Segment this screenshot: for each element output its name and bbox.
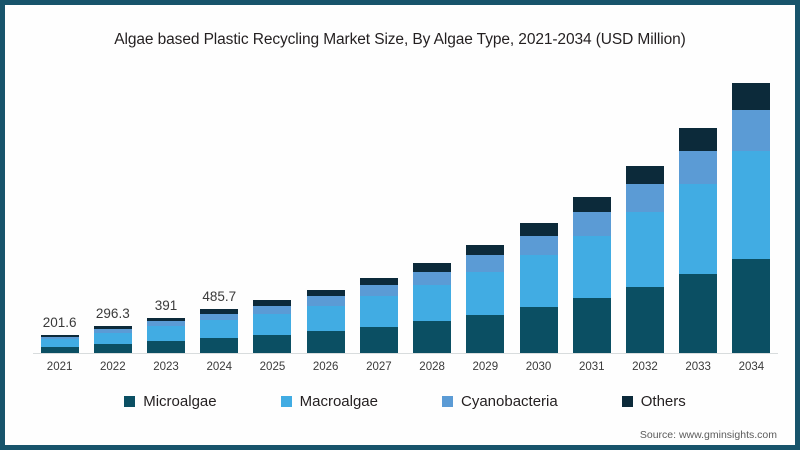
bar-group (566, 197, 618, 353)
bar-segment-macroalgae[interactable] (626, 212, 664, 287)
bar-segment-cyanobacteria[interactable] (732, 110, 770, 151)
bar-group (300, 290, 352, 353)
legend-item-others[interactable]: Others (622, 393, 686, 410)
bar-segment-cyanobacteria[interactable] (573, 212, 611, 235)
x-tick-label: 2032 (619, 361, 671, 373)
chart-legend: MicroalgaeMacroalgaeCyanobacteriaOthers (5, 393, 800, 410)
bar-segment-others[interactable] (573, 197, 611, 213)
bar-segment-microalgae[interactable] (307, 331, 345, 353)
x-tick-label: 2025 (246, 361, 298, 373)
bar-segment-macroalgae[interactable] (466, 272, 504, 315)
stacked-bar[interactable] (307, 290, 345, 353)
bar-segment-microalgae[interactable] (253, 335, 291, 353)
x-tick-label: 2031 (566, 361, 618, 373)
bar-value-label: 296.3 (96, 306, 130, 321)
bar-segment-microalgae[interactable] (520, 307, 558, 353)
stacked-bar[interactable] (732, 83, 770, 353)
legend-swatch-icon (442, 396, 453, 407)
chart-frame: Algae based Plastic Recycling Market Siz… (0, 0, 800, 450)
bar-value-label: 485.7 (202, 289, 236, 304)
bar-segment-microalgae[interactable] (466, 315, 504, 353)
legend-item-macroalgae[interactable]: Macroalgae (281, 393, 378, 410)
legend-item-cyanobacteria[interactable]: Cyanobacteria (442, 393, 558, 410)
bar-group (725, 83, 777, 353)
bar-segment-cyanobacteria[interactable] (520, 236, 558, 256)
x-axis-baseline (33, 353, 778, 354)
bar-segment-cyanobacteria[interactable] (200, 314, 238, 321)
bar-segment-microalgae[interactable] (573, 298, 611, 353)
bar-segment-microalgae[interactable] (679, 274, 717, 353)
bar-segment-microalgae[interactable] (626, 287, 664, 353)
bar-segment-macroalgae[interactable] (732, 151, 770, 259)
stacked-bar[interactable] (573, 197, 611, 353)
chart-title: Algae based Plastic Recycling Market Siz… (5, 31, 795, 49)
bar-segment-cyanobacteria[interactable] (307, 296, 345, 305)
bar-group: 201.6 (34, 335, 86, 353)
bar-segment-others[interactable] (732, 83, 770, 110)
legend-label: Microalgae (143, 393, 216, 410)
stacked-bar[interactable] (679, 128, 717, 353)
stacked-bar[interactable] (360, 278, 398, 354)
bar-segment-cyanobacteria[interactable] (360, 285, 398, 296)
bar-group (246, 300, 298, 353)
x-tick-label: 2027 (353, 361, 405, 373)
x-tick-label: 2022 (87, 361, 139, 373)
bar-segment-cyanobacteria[interactable] (679, 151, 717, 185)
bar-group: 485.7 (193, 309, 245, 353)
x-tick-label: 2024 (193, 361, 245, 373)
bar-segment-macroalgae[interactable] (679, 184, 717, 274)
bar-segment-macroalgae[interactable] (253, 314, 291, 335)
stacked-bar[interactable] (41, 335, 79, 353)
bar-value-label: 391 (155, 298, 178, 313)
bar-segment-microalgae[interactable] (94, 344, 132, 353)
x-tick-label: 2030 (513, 361, 565, 373)
bar-segment-microalgae[interactable] (41, 347, 79, 353)
legend-label: Cyanobacteria (461, 393, 558, 410)
bar-segment-macroalgae[interactable] (360, 296, 398, 326)
x-tick-label: 2029 (459, 361, 511, 373)
bar-segment-others[interactable] (520, 223, 558, 236)
bar-segment-cyanobacteria[interactable] (413, 272, 451, 286)
bar-value-label: 201.6 (43, 315, 77, 330)
legend-swatch-icon (281, 396, 292, 407)
legend-label: Macroalgae (300, 393, 378, 410)
stacked-bar[interactable] (520, 223, 558, 353)
bar-segment-cyanobacteria[interactable] (253, 306, 291, 314)
bar-segment-macroalgae[interactable] (147, 326, 185, 340)
legend-swatch-icon (124, 396, 135, 407)
bar-segment-macroalgae[interactable] (200, 320, 238, 338)
stacked-bar[interactable] (147, 318, 185, 353)
bar-segment-macroalgae[interactable] (413, 285, 451, 321)
bar-group (459, 245, 511, 354)
bar-group (513, 223, 565, 353)
bar-segment-microalgae[interactable] (413, 321, 451, 353)
plot-area: 201.6296.3391485.7 (33, 67, 778, 354)
bar-segment-microalgae[interactable] (200, 338, 238, 353)
bar-group (406, 263, 458, 353)
bar-segment-macroalgae[interactable] (307, 306, 345, 331)
bar-segment-others[interactable] (679, 128, 717, 151)
bar-segment-others[interactable] (626, 166, 664, 185)
bar-segment-macroalgae[interactable] (520, 255, 558, 307)
legend-label: Others (641, 393, 686, 410)
bar-segment-cyanobacteria[interactable] (466, 255, 504, 271)
x-tick-label: 2026 (300, 361, 352, 373)
bar-segment-others[interactable] (413, 263, 451, 272)
bar-segment-macroalgae[interactable] (41, 339, 79, 346)
bar-segment-cyanobacteria[interactable] (626, 184, 664, 212)
stacked-bar[interactable] (200, 309, 238, 353)
bar-segment-microalgae[interactable] (732, 259, 770, 353)
x-tick-label: 2034 (725, 361, 777, 373)
bar-segment-microalgae[interactable] (360, 327, 398, 353)
bar-group: 296.3 (87, 326, 139, 353)
bar-group (353, 278, 405, 354)
x-tick-label: 2028 (406, 361, 458, 373)
source-attribution: Source: www.gminsights.com (640, 429, 777, 441)
legend-item-microalgae[interactable]: Microalgae (124, 393, 216, 410)
bar-segment-microalgae[interactable] (147, 341, 185, 353)
bar-group: 391 (140, 318, 192, 353)
stacked-bar[interactable] (466, 245, 504, 354)
stacked-bar[interactable] (253, 300, 291, 353)
stacked-bar[interactable] (413, 263, 451, 353)
x-tick-label: 2021 (34, 361, 86, 373)
stacked-bar[interactable] (626, 166, 664, 353)
stacked-bar[interactable] (94, 326, 132, 353)
x-tick-label: 2033 (672, 361, 724, 373)
bar-segment-macroalgae[interactable] (94, 333, 132, 344)
x-axis-tick-labels: 2021202220232024202520262027202820292030… (33, 355, 778, 375)
legend-swatch-icon (622, 396, 633, 407)
x-tick-label: 2023 (140, 361, 192, 373)
bar-segment-others[interactable] (360, 278, 398, 286)
bar-group (619, 166, 671, 353)
bar-segment-macroalgae[interactable] (573, 236, 611, 298)
bar-segment-others[interactable] (466, 245, 504, 256)
bar-group (672, 128, 724, 353)
